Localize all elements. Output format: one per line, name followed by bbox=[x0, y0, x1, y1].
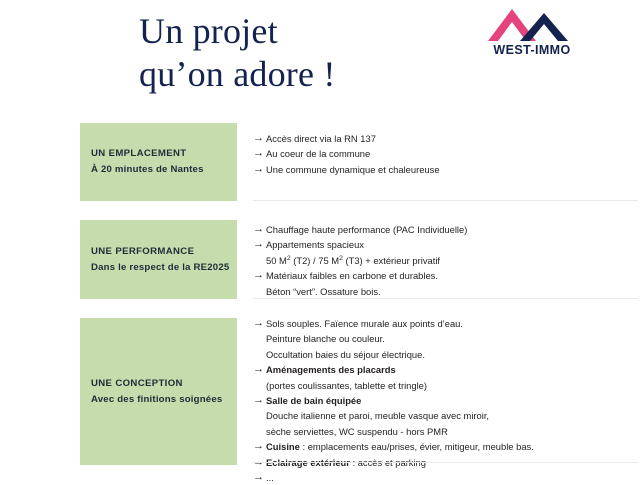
list-item-subtext: Occultation baies du séjour électrique. bbox=[253, 347, 633, 362]
section-conception: UNE CONCEPTION Avec des finitions soigné… bbox=[0, 318, 640, 465]
list-item: → Chauffage haute performance (PAC Indiv… bbox=[253, 222, 633, 237]
list-item-text: Salle de bain équipée bbox=[266, 393, 633, 408]
section-label-box: UNE PERFORMANCE Dans le respect de la RE… bbox=[80, 220, 237, 299]
list-item-text: Au coeur de la commune bbox=[266, 146, 633, 161]
arrow-right-icon: → bbox=[253, 146, 266, 161]
section-divider bbox=[253, 298, 638, 299]
list-item: → Sols souples. Faïence murale aux point… bbox=[253, 316, 633, 331]
list-item-text: Chauffage haute performance (PAC Individ… bbox=[266, 222, 633, 237]
section-title: UN EMPLACEMENT bbox=[91, 146, 237, 162]
list-item: → Au coeur de la commune bbox=[253, 146, 633, 161]
section-divider bbox=[253, 462, 638, 463]
list-item-text: Cuisine : emplacements eau/prises, évier… bbox=[266, 439, 633, 454]
page-title-line-1: Un projet bbox=[139, 11, 278, 51]
section-label-box: UNE CONCEPTION Avec des finitions soigné… bbox=[80, 318, 237, 465]
list-item: → Accès direct via la RN 137 bbox=[253, 131, 633, 146]
list-item-subtext: 50 M2 (T2) / 75 M2 (T3) + extérieur priv… bbox=[253, 253, 633, 268]
list-item-text: Une commune dynamique et chaleureuse bbox=[266, 162, 633, 177]
list-item-subtext: Peinture blanche ou couleur. bbox=[253, 331, 633, 346]
section-subtitle: Dans le respect de la RE2025 bbox=[91, 260, 237, 276]
logo-wordmark: WEST-IMMO bbox=[478, 43, 586, 57]
list-item: → Appartements spacieux bbox=[253, 237, 633, 252]
list-item-lead: Cuisine bbox=[266, 441, 300, 452]
list-item-subtext: (portes coulissantes, tablette et tringl… bbox=[253, 378, 633, 393]
arrow-right-icon: → bbox=[253, 470, 266, 485]
list-item-text: Appartements spacieux bbox=[266, 237, 633, 252]
arrow-right-icon: → bbox=[253, 316, 266, 331]
list-item-subtext: sèche serviettes, WC suspendu - hors PMR bbox=[253, 424, 633, 439]
section-bullet-list: → Sols souples. Faïence murale aux point… bbox=[253, 316, 633, 485]
double-roof-chevron-icon bbox=[487, 8, 577, 42]
section-performance: UNE PERFORMANCE Dans le respect de la RE… bbox=[0, 220, 640, 299]
arrow-right-icon: → bbox=[253, 393, 266, 408]
section-subtitle: Avec des finitions soignées bbox=[91, 392, 237, 408]
section-title: UNE CONCEPTION bbox=[91, 376, 237, 392]
list-item-text: ... bbox=[266, 470, 633, 485]
arrow-right-icon: → bbox=[253, 131, 266, 146]
west-immo-logo: WEST-IMMO bbox=[478, 8, 586, 60]
list-item: → Aménagements des placards bbox=[253, 362, 633, 377]
page-title-line-2: quʼon adore ! bbox=[139, 53, 469, 96]
list-item-text: Matériaux faibles en carbone et durables… bbox=[266, 268, 633, 283]
section-divider bbox=[253, 200, 638, 201]
section-label-box: UN EMPLACEMENT À 20 minutes de Nantes bbox=[80, 123, 237, 201]
section-subtitle: À 20 minutes de Nantes bbox=[91, 162, 237, 178]
list-item-rest: : emplacements eau/prises, évier, mitige… bbox=[300, 441, 534, 452]
page-title: Un projet quʼon adore ! bbox=[139, 10, 469, 96]
arrow-right-icon: → bbox=[253, 439, 266, 454]
arrow-right-icon: → bbox=[253, 222, 266, 237]
arrow-right-icon: → bbox=[253, 162, 266, 177]
list-item: → Matériaux faibles en carbone et durabl… bbox=[253, 268, 633, 283]
list-item-text: Aménagements des placards bbox=[266, 362, 633, 377]
brochure-page: Un projet quʼon adore ! WEST-IMMO UN EMP… bbox=[0, 0, 640, 480]
section-title: UNE PERFORMANCE bbox=[91, 244, 237, 260]
arrow-right-icon: → bbox=[253, 362, 266, 377]
list-item: → Une commune dynamique et chaleureuse bbox=[253, 162, 633, 177]
list-item-text: Accès direct via la RN 137 bbox=[266, 131, 633, 146]
page-header: Un projet quʼon adore ! WEST-IMMO bbox=[0, 0, 640, 112]
arrow-right-icon: → bbox=[253, 268, 266, 283]
list-item-subtext: Béton “vert”. Ossature bois. bbox=[253, 284, 633, 299]
list-item: → ... bbox=[253, 470, 633, 485]
list-item: → Cuisine : emplacements eau/prises, évi… bbox=[253, 439, 633, 454]
section-emplacement: UN EMPLACEMENT À 20 minutes de Nantes → … bbox=[0, 123, 640, 201]
arrow-right-icon: → bbox=[253, 237, 266, 252]
section-bullet-list: → Accès direct via la RN 137 → Au coeur … bbox=[253, 131, 633, 177]
list-item-subtext: Douche italienne et paroi, meuble vasque… bbox=[253, 408, 633, 423]
list-item: → Salle de bain équipée bbox=[253, 393, 633, 408]
section-bullet-list: → Chauffage haute performance (PAC Indiv… bbox=[253, 222, 633, 299]
list-item-text: Sols souples. Faïence murale aux points … bbox=[266, 316, 633, 331]
